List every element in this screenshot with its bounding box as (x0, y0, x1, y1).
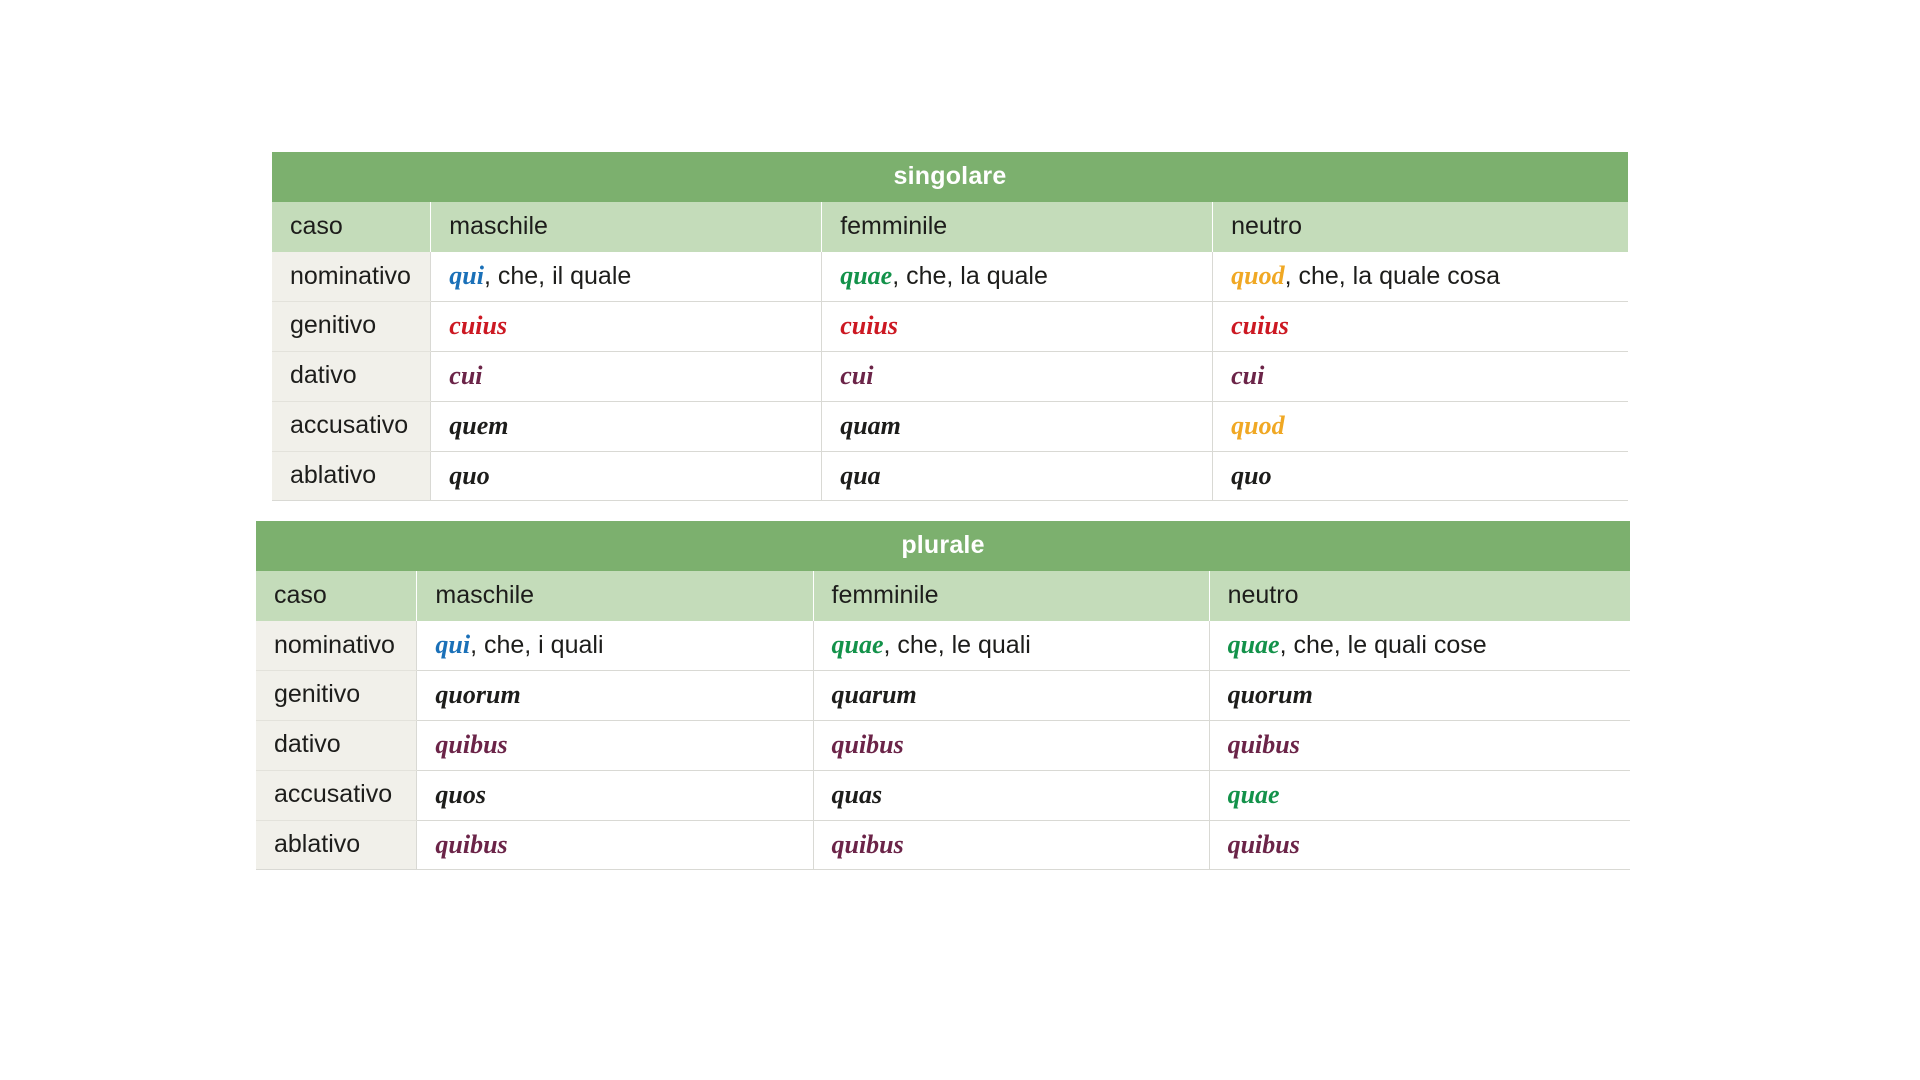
latin-form: quae (1228, 780, 1280, 809)
form-cell-femminile: quas (813, 770, 1209, 820)
form-cell-neutro: quae, che, le quali cose (1209, 621, 1630, 670)
form-cell-neutro: quorum (1209, 670, 1630, 720)
column-header-maschile: maschile (431, 202, 822, 252)
case-label-cell: dativo (256, 720, 417, 770)
case-label-cell: accusativo (272, 401, 431, 451)
form-cell-femminile: cui (822, 351, 1213, 401)
latin-form: quorum (435, 680, 520, 709)
case-label-cell: accusativo (256, 770, 417, 820)
italian-gloss: , che, i quali (470, 631, 603, 659)
latin-form: cuius (449, 311, 507, 340)
table-body: nominativoqui, che, i qualiquae, che, le… (256, 621, 1630, 870)
italian-gloss: , che, la quale cosa (1285, 262, 1500, 290)
latin-form: qui (449, 261, 484, 290)
case-label-cell: ablativo (272, 451, 431, 501)
case-label-cell: dativo (272, 351, 431, 401)
column-header-maschile: maschile (417, 571, 813, 621)
form-cell-maschile: qui, che, il quale (431, 252, 822, 301)
table-row: genitivocuiuscuiuscuius (272, 301, 1628, 351)
latin-form: quod (1231, 261, 1284, 290)
table-column-header-row: caso maschile femminile neutro (272, 202, 1628, 252)
latin-form: quibus (1228, 730, 1300, 759)
form-cell-maschile: quibus (417, 720, 813, 770)
form-cell-femminile: quae, che, le quali (813, 621, 1209, 670)
form-cell-femminile: qua (822, 451, 1213, 501)
table-title: plurale (256, 521, 1630, 571)
table-row: dativocuicuicui (272, 351, 1628, 401)
latin-form: quae (1228, 630, 1280, 659)
latin-form: qui (435, 630, 470, 659)
table-title-row: singolare (272, 152, 1628, 202)
form-cell-neutro: quibus (1209, 720, 1630, 770)
case-label-cell: nominativo (272, 252, 431, 301)
italian-gloss: , che, le quali (884, 631, 1031, 659)
latin-form: quo (1231, 461, 1271, 490)
form-cell-maschile: quorum (417, 670, 813, 720)
latin-form: cui (449, 361, 482, 390)
latin-form: qua (840, 461, 880, 490)
form-cell-neutro: quibus (1209, 820, 1630, 870)
case-label-cell: nominativo (256, 621, 417, 670)
latin-form: quam (840, 411, 901, 440)
latin-form: quae (832, 630, 884, 659)
form-cell-femminile: quibus (813, 720, 1209, 770)
latin-form: quibus (832, 830, 904, 859)
form-cell-maschile: qui, che, i quali (417, 621, 813, 670)
column-header-femminile: femminile (822, 202, 1213, 252)
page-root: singolare caso maschile femminile neutro… (0, 0, 1920, 1080)
case-label-cell: genitivo (256, 670, 417, 720)
form-cell-femminile: quam (822, 401, 1213, 451)
form-cell-femminile: quae, che, la quale (822, 252, 1213, 301)
form-cell-neutro: quod (1213, 401, 1628, 451)
declension-table-plurale: plurale caso maschile femminile neutro n… (256, 521, 1630, 870)
column-header-neutro: neutro (1213, 202, 1628, 252)
form-cell-maschile: quem (431, 401, 822, 451)
italian-gloss: , che, le quali cose (1280, 631, 1487, 659)
latin-form: quae (840, 261, 892, 290)
case-label-cell: genitivo (272, 301, 431, 351)
table-row: dativoquibusquibusquibus (256, 720, 1630, 770)
latin-form: quas (832, 780, 883, 809)
latin-form: cui (1231, 361, 1264, 390)
form-cell-maschile: cui (431, 351, 822, 401)
table-row: ablativoquoquaquo (272, 451, 1628, 501)
latin-form: quo (449, 461, 489, 490)
column-header-caso: caso (256, 571, 417, 621)
column-header-caso: caso (272, 202, 431, 252)
latin-form: quos (435, 780, 486, 809)
latin-form: quod (1231, 411, 1284, 440)
form-cell-maschile: quibus (417, 820, 813, 870)
column-header-femminile: femminile (813, 571, 1209, 621)
latin-form: quibus (435, 830, 507, 859)
form-cell-femminile: quibus (813, 820, 1209, 870)
form-cell-neutro: quod, che, la quale cosa (1213, 252, 1628, 301)
table-row: accusativoquemquamquod (272, 401, 1628, 451)
table-row: accusativoquosquasquae (256, 770, 1630, 820)
latin-form: quorum (1228, 680, 1313, 709)
table-row: ablativoquibusquibusquibus (256, 820, 1630, 870)
latin-form: quibus (435, 730, 507, 759)
latin-form: quem (449, 411, 508, 440)
latin-form: cuius (840, 311, 898, 340)
form-cell-femminile: cuius (822, 301, 1213, 351)
form-cell-femminile: quarum (813, 670, 1209, 720)
table-title: singolare (272, 152, 1628, 202)
latin-form: quarum (832, 680, 917, 709)
italian-gloss: , che, la quale (892, 262, 1048, 290)
column-header-neutro: neutro (1209, 571, 1630, 621)
form-cell-neutro: quae (1209, 770, 1630, 820)
case-label-cell: ablativo (256, 820, 417, 870)
form-cell-neutro: cui (1213, 351, 1628, 401)
form-cell-neutro: cuius (1213, 301, 1628, 351)
table-row: genitivoquorumquarumquorum (256, 670, 1630, 720)
form-cell-maschile: quos (417, 770, 813, 820)
latin-form: quibus (832, 730, 904, 759)
form-cell-neutro: quo (1213, 451, 1628, 501)
table-column-header-row: caso maschile femminile neutro (256, 571, 1630, 621)
latin-form: cui (840, 361, 873, 390)
latin-form: quibus (1228, 830, 1300, 859)
table-row: nominativoqui, che, i qualiquae, che, le… (256, 621, 1630, 670)
table-row: nominativoqui, che, il qualequae, che, l… (272, 252, 1628, 301)
latin-form: cuius (1231, 311, 1289, 340)
table-title-row: plurale (256, 521, 1630, 571)
declension-table-singolare: singolare caso maschile femminile neutro… (272, 152, 1628, 501)
italian-gloss: , che, il quale (484, 262, 631, 290)
form-cell-maschile: quo (431, 451, 822, 501)
table-body: nominativoqui, che, il qualequae, che, l… (272, 252, 1628, 501)
form-cell-maschile: cuius (431, 301, 822, 351)
